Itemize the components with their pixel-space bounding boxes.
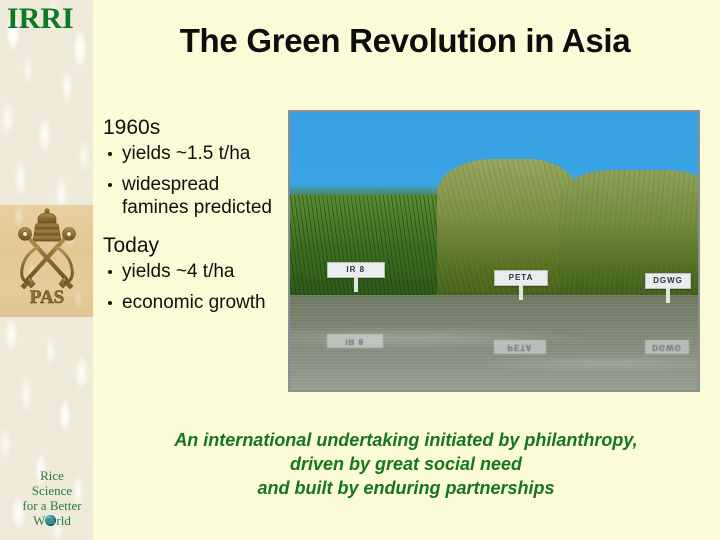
plot-peta-region [437, 159, 576, 315]
globe-icon [45, 515, 56, 526]
plot-sign-dgwg-reflection: DGWG [645, 340, 689, 354]
bullet-text-column: 1960s yields ~1.5 t/ha widespread famine… [103, 115, 283, 328]
section-heading-1960s: 1960s [103, 115, 283, 140]
slide-caption: An international undertaking initiated b… [100, 428, 712, 500]
sign-post [519, 285, 523, 300]
tagline-line-3: for a Better [10, 498, 93, 513]
tagline-w: W [33, 513, 45, 528]
section-heading-today: Today [103, 233, 283, 258]
plot-sign-dgwg: DGWG [645, 273, 691, 289]
list-item: widespread famines predicted [103, 173, 283, 219]
sign-post [354, 277, 358, 292]
bullet-list-1960s: yields ~1.5 t/ha widespread famines pred… [103, 142, 283, 219]
plot-sign-peta: PETA [494, 270, 548, 286]
pontifical-academy-of-sciences-emblem: PAS [8, 207, 86, 315]
list-item: economic growth [103, 291, 283, 314]
caption-line-2: driven by great social need [100, 452, 712, 476]
sign-post [666, 288, 670, 303]
plot-sign-peta-reflection: PETA [494, 340, 546, 354]
photo-content: IR 8 PETA DGWG IR 8 PETA DGWG [290, 112, 698, 390]
bullet-list-today: yields ~4 t/ha economic growth [103, 260, 283, 314]
tagline-line-2: Science [10, 483, 93, 498]
caption-line-1: An international undertaking initiated b… [100, 428, 712, 452]
list-item: yields ~4 t/ha [103, 260, 283, 283]
slide-canvas: IRRI [0, 0, 720, 540]
plot-dgwg-region [559, 170, 698, 315]
rice-variety-comparison-photo: IR 8 PETA DGWG IR 8 PETA DGWG [288, 110, 700, 392]
plot-sign-ir8: IR 8 [327, 262, 385, 278]
irri-tagline: Rice Science for a Better Wrld [10, 468, 93, 528]
tagline-line-4: Wrld [10, 513, 93, 528]
caption-line-3: and built by enduring partnerships [100, 476, 712, 500]
list-item: yields ~1.5 t/ha [103, 142, 283, 165]
tagline-rld: rld [56, 513, 70, 528]
slide-title: The Green Revolution in Asia [100, 22, 710, 60]
svg-text:PAS: PAS [30, 287, 64, 308]
irri-logo: IRRI [7, 4, 74, 34]
plot-sign-ir8-reflection: IR 8 [327, 334, 383, 348]
tagline-line-1: Rice [10, 468, 93, 483]
left-sidebar: IRRI [0, 0, 93, 540]
